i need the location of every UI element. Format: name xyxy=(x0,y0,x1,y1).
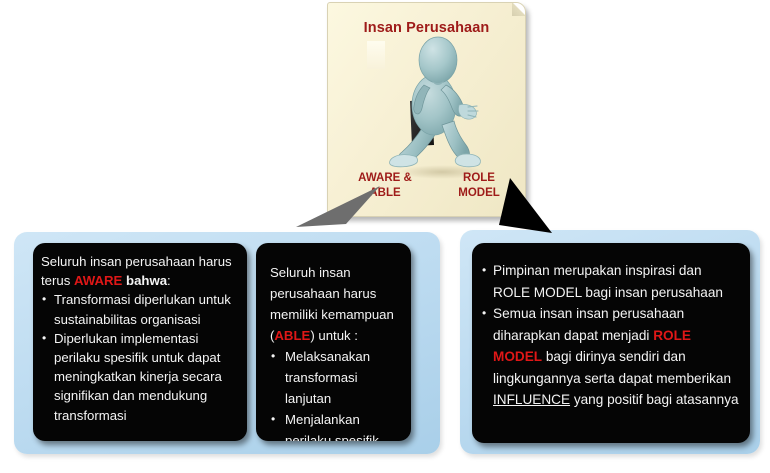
connector-right-black xyxy=(488,178,618,248)
role-model-bullet-list: Pimpinan merupakan inspirasi dan ROLE MO… xyxy=(481,260,741,411)
caption-aware-able-line1: AWARE & xyxy=(345,171,425,186)
list-item: Melaksanakan transformasi lanjutan xyxy=(270,346,401,409)
aware-bullet-list: Transformasi diperlukan untuk sustainabi… xyxy=(41,290,239,424)
able-text-box: Seluruh insan perusahaan harus memiliki … xyxy=(256,243,411,441)
walking-person-3d-icon xyxy=(380,33,520,183)
role-model-text-box: Pimpinan merupakan inspirasi dan ROLE MO… xyxy=(472,243,750,443)
able-bullet-list: Melaksanakan transformasi lanjutan Menja… xyxy=(270,346,401,441)
aware-keyword: AWARE xyxy=(74,273,122,288)
able-intro: Seluruh insan perusahaan harus memiliki … xyxy=(270,262,401,346)
list-item: Transformasi diperlukan untuk sustainabi… xyxy=(41,290,239,328)
able-keyword: ABLE xyxy=(274,328,310,343)
connector-left-gray xyxy=(280,186,400,246)
influence-keyword: INFLUENCE xyxy=(493,392,570,407)
list-item: Semua insan insan perusahaan diharapkan … xyxy=(481,303,741,411)
slide-canvas: Insan Perusahaan xyxy=(0,0,770,473)
aware-intro-colon: : xyxy=(167,273,171,288)
list-item: Pimpinan merupakan inspirasi dan ROLE MO… xyxy=(481,260,741,303)
aware-intro: Seluruh insan perusahaan harus terus AWA… xyxy=(41,252,239,290)
able-intro-post: ) untuk : xyxy=(310,328,358,343)
page-fold-icon xyxy=(512,2,526,16)
list-item: Diperlukan implementasi perilaku spesifi… xyxy=(41,329,239,425)
list-item: Menjalankan perilaku spesifik xyxy=(270,409,401,441)
role-model-b2-post: yang positif bagi atasannya xyxy=(570,392,739,407)
aware-text-box: Seluruh insan perusahaan harus terus AWA… xyxy=(33,243,247,441)
aware-intro-post: bahwa xyxy=(122,273,167,288)
